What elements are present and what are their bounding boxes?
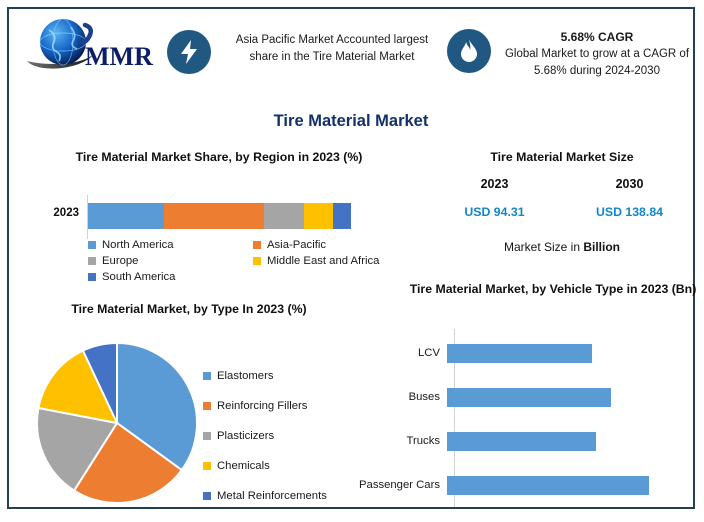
region-stacked-bar	[88, 203, 351, 229]
legend-swatch	[253, 257, 261, 265]
region-segment	[333, 203, 351, 229]
vehicle-bar-label: LCV	[339, 347, 447, 359]
vehicle-bar-row: Buses	[339, 375, 697, 419]
vehicle-bar-row: LCV	[339, 331, 697, 375]
vehicle-bar	[447, 476, 649, 495]
header-asia-text: Asia Pacific Market Accounted largest sh…	[221, 30, 443, 65]
market-size-col-2030: 2030 USD 138.84	[562, 177, 697, 219]
legend-swatch	[88, 257, 96, 265]
legend-label: Middle East and Africa	[267, 255, 379, 267]
legend-label: Chemicals	[217, 460, 270, 472]
legend-label: Reinforcing Fillers	[217, 400, 307, 412]
lightning-bolt-icon	[167, 30, 211, 74]
market-size-unit-bold: Billion	[583, 240, 620, 254]
market-size-col-2023: 2023 USD 94.31	[427, 177, 562, 219]
header-highlight-cagr: 5.68% CAGR Global Market to grow at a CA…	[447, 29, 697, 80]
legend-label: Elastomers	[217, 370, 274, 382]
legend-label: Metal Reinforcements	[217, 490, 327, 502]
vehicle-bar	[447, 388, 611, 407]
legend-swatch	[203, 432, 211, 440]
type-chart-title: Tire Material Market, by Type In 2023 (%…	[13, 301, 365, 319]
vehicle-bar	[447, 344, 592, 363]
header-highlight-asia: Asia Pacific Market Accounted largest sh…	[167, 30, 445, 74]
market-size-unit-prefix: Market Size in	[504, 240, 583, 254]
market-size-unit: Market Size in Billion	[427, 240, 697, 254]
flame-icon	[447, 29, 491, 73]
market-size-values: 2023 USD 94.31 2030 USD 138.84	[427, 177, 697, 219]
legend-swatch	[203, 492, 211, 500]
region-chart-title: Tire Material Market Share, by Region in…	[19, 149, 419, 167]
market-size-year-2030: 2030	[562, 177, 697, 191]
vehicle-bar-row: Passenger Cars	[339, 463, 697, 507]
legend-label: Plasticizers	[217, 430, 274, 442]
vehicle-bar-chart: LCVBusesTrucksPassenger Cars	[339, 329, 697, 514]
brand-logo: MMR	[23, 15, 168, 77]
legend-item: Asia-Pacific	[253, 239, 418, 251]
legend-label: Europe	[102, 255, 138, 267]
vehicle-bar-label: Trucks	[339, 435, 447, 447]
region-chart-legend: North AmericaAsia-PacificEuropeMiddle Ea…	[88, 239, 418, 287]
page-title: Tire Material Market	[9, 112, 693, 131]
market-size-value-2030: USD 138.84	[562, 205, 697, 219]
legend-swatch	[203, 372, 211, 380]
legend-swatch	[88, 273, 96, 281]
region-stacked-bar-chart: 2023	[9, 195, 429, 239]
header-cagr-text: 5.68% CAGR Global Market to grow at a CA…	[499, 29, 695, 80]
legend-label: South America	[102, 271, 175, 283]
globe-icon: MMR	[23, 15, 168, 77]
legend-item: Europe	[88, 255, 253, 267]
brand-name: MMR	[85, 42, 153, 71]
region-segment	[304, 203, 333, 229]
region-category-label: 2023	[23, 207, 79, 219]
type-pie-chart	[33, 339, 201, 507]
vehicle-bar-label: Passenger Cars	[339, 479, 447, 491]
legend-swatch	[88, 241, 96, 249]
legend-swatch	[203, 462, 211, 470]
pie-svg	[33, 339, 201, 507]
legend-label: North America	[102, 239, 174, 251]
legend-item: North America	[88, 239, 253, 251]
legend-label: Asia-Pacific	[267, 239, 326, 251]
vehicle-bar-label: Buses	[339, 391, 447, 403]
legend-swatch	[203, 402, 211, 410]
cagr-description: Global Market to grow at a CAGR of 5.68%…	[505, 48, 689, 77]
region-segment	[164, 203, 264, 229]
legend-swatch	[253, 241, 261, 249]
infographic-container: MMR Asia Pacific Market Accounted larges…	[7, 7, 695, 509]
vehicle-chart-title: Tire Material Market, by Vehicle Type in…	[409, 281, 697, 299]
market-size-title: Tire Material Market Size	[427, 149, 697, 167]
cagr-value: 5.68% CAGR	[499, 29, 695, 46]
legend-item: Middle East and Africa	[253, 255, 418, 267]
region-segment	[88, 203, 164, 229]
header: MMR Asia Pacific Market Accounted larges…	[9, 9, 693, 99]
region-segment	[264, 203, 303, 229]
vehicle-bar	[447, 432, 596, 451]
market-size-year-2023: 2023	[427, 177, 562, 191]
legend-item: South America	[88, 271, 253, 283]
vehicle-bar-row: Trucks	[339, 419, 697, 463]
market-size-value-2023: USD 94.31	[427, 205, 562, 219]
